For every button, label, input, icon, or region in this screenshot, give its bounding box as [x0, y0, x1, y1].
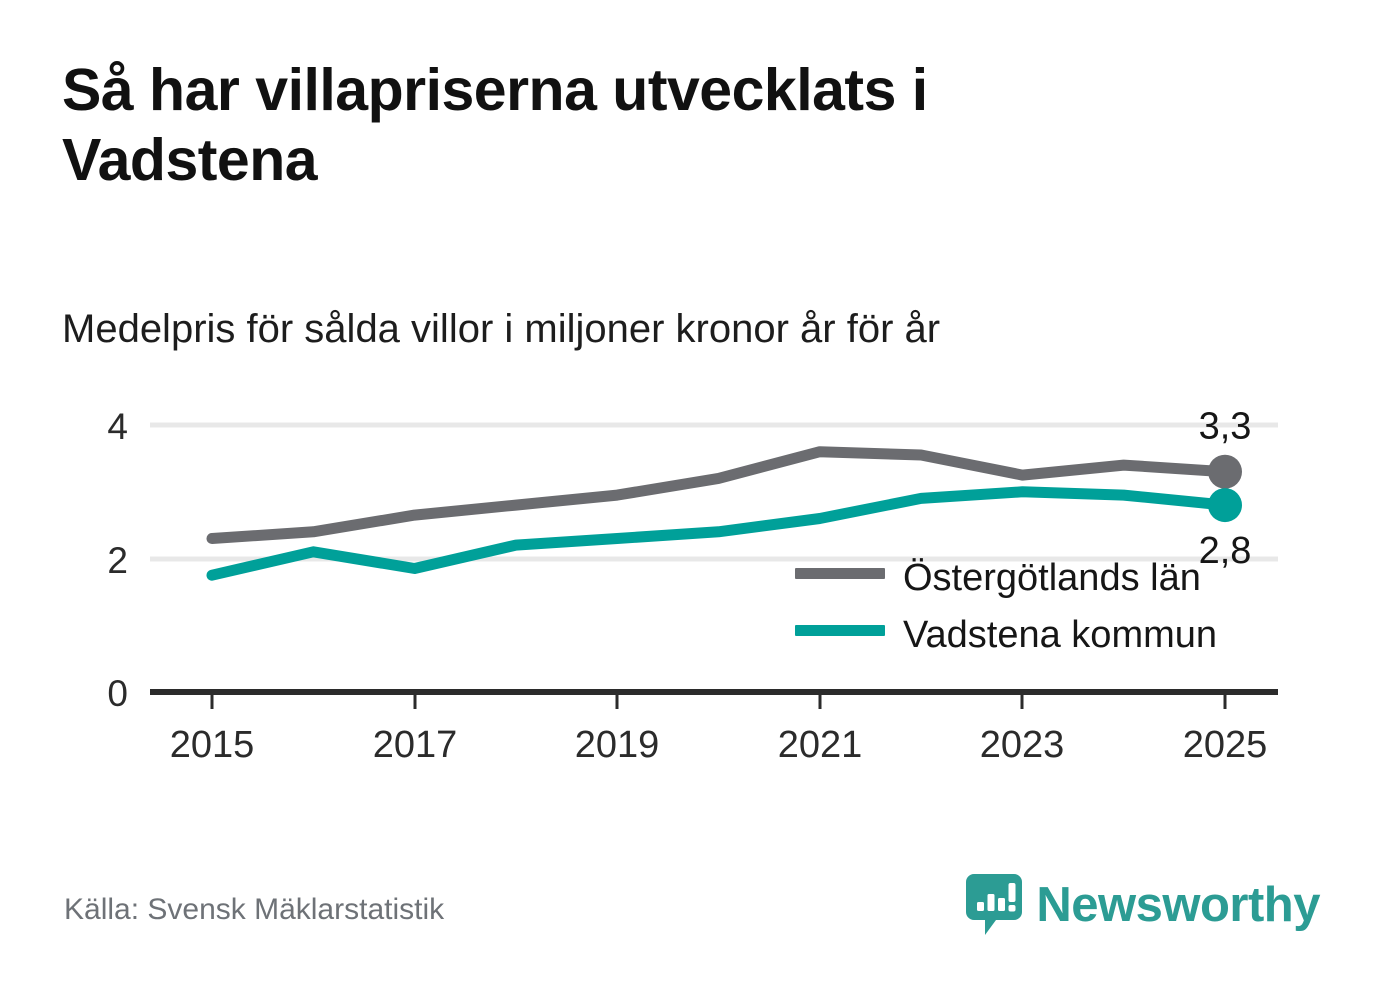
chart-legend: Östergötlands län Vadstena kommun [795, 557, 1217, 656]
y-tick-label: 0 [107, 673, 128, 714]
x-tick-label: 2015 [170, 724, 255, 766]
series-endpoints [1208, 455, 1242, 522]
newsworthy-logo-text: Newsworthy [1036, 881, 1320, 930]
legend-item-region: Östergötlands län [795, 557, 1201, 599]
newsworthy-bubble-bar-chart-icon [966, 874, 1022, 936]
endpoint-dot-municipality [1208, 488, 1242, 522]
gridlines [150, 425, 1278, 559]
x-axis-ticks [212, 692, 1225, 709]
chart-subtitle: Medelpris för sålda villor i miljoner kr… [62, 305, 1262, 353]
x-tick-label: 2025 [1183, 724, 1268, 766]
series-line-region [212, 452, 1225, 539]
legend-swatch-region [795, 568, 885, 579]
source-note: Källa: Svensk Mäklarstatistik [64, 893, 444, 927]
series-lines [212, 452, 1225, 576]
value-label-region: 3,3 [1199, 406, 1252, 448]
y-axis-labels: 4 2 0 [107, 406, 128, 714]
endpoint-dot-region [1208, 455, 1242, 489]
legend-label-region: Östergötlands län [903, 557, 1201, 599]
legend-swatch-municipality [795, 625, 885, 636]
chart-page: Så har villapriserna utvecklats i Vadste… [0, 0, 1382, 999]
legend-item-municipality: Vadstena kommun [795, 614, 1217, 656]
legend-label-municipality: Vadstena kommun [903, 614, 1217, 656]
newsworthy-logo: Newsworthy [966, 874, 1320, 936]
x-tick-label: 2023 [980, 724, 1065, 766]
y-tick-label: 4 [107, 406, 128, 447]
series-line-municipality [212, 492, 1225, 575]
page-title: Så har villapriserna utvecklats i Vadste… [62, 56, 1092, 195]
value-label-municipality: 2,8 [1199, 530, 1252, 572]
value-labels: 3,3 2,8 [1199, 406, 1252, 572]
x-tick-label: 2019 [575, 724, 660, 766]
y-tick-label: 2 [107, 540, 128, 581]
x-axis-labels: 2015 2017 2019 2021 2023 2025 [170, 724, 1268, 766]
x-tick-label: 2021 [778, 724, 863, 766]
x-tick-label: 2017 [373, 724, 458, 766]
